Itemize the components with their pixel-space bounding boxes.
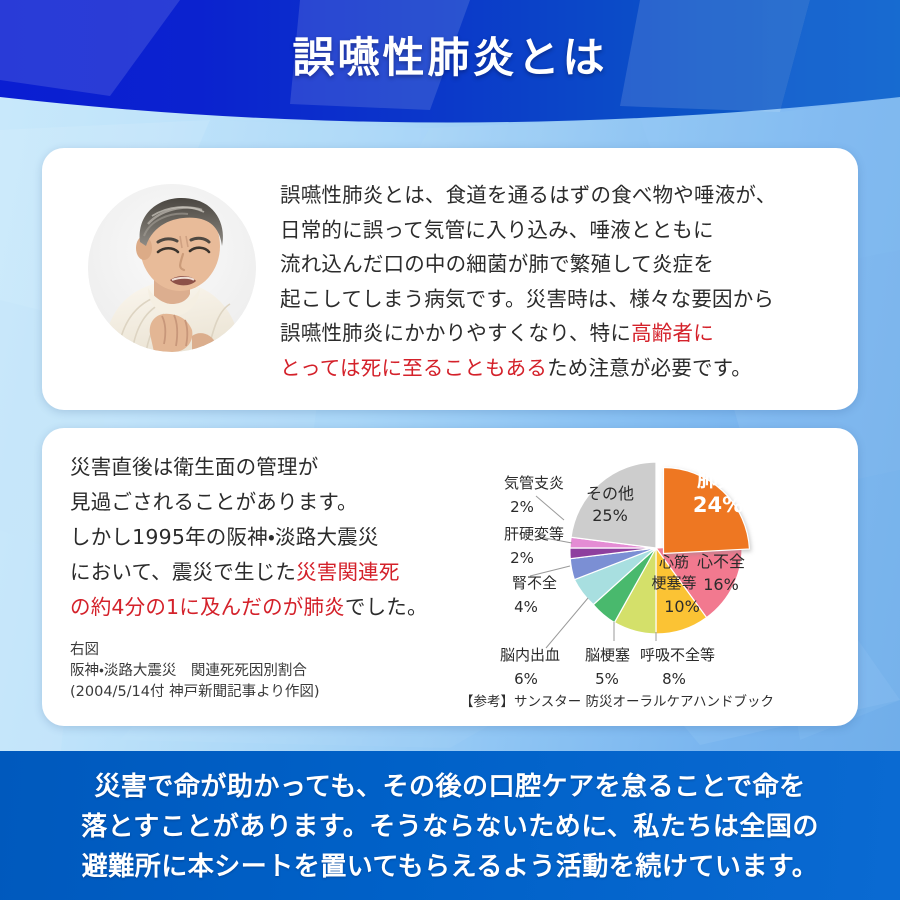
credit-line-3: (2004/5/14付 神戸新聞記事より作図): [70, 682, 500, 703]
header-banner: 誤嚥性肺炎とは: [0, 0, 900, 135]
intro-line-5: 誤嚥性肺炎にかかりやすくなり、特に高齢者に: [280, 316, 840, 351]
quake-line-5-highlight: の約4分の1に及んだのが肺炎: [70, 595, 345, 619]
intro-card: 誤嚥性肺炎とは、食道を通るはずの食べ物や唾液が、 日常的に誤って気管に入り込み、…: [42, 148, 858, 410]
label-nounai-pct: 6%: [514, 670, 538, 688]
label-kankouhen-name: 肝硬変等: [504, 525, 564, 543]
intro-paragraph: 誤嚥性肺炎とは、食道を通るはずの食べ物や唾液が、 日常的に誤って気管に入り込み、…: [280, 178, 840, 385]
quake-line-2: 見過ごされることがあります。: [70, 485, 490, 520]
credit-line-2: 阪神・淡路大震災 関連死死因別割合: [70, 661, 500, 682]
label-sonota-pct: 25%: [592, 506, 628, 525]
credit-line-1: 右図: [70, 640, 500, 661]
label-kankouhen-pct: 2%: [510, 549, 534, 567]
man-clutching-chest-illustration: [88, 184, 256, 352]
bottom-line-2: 落とすことがあります。そうならないために、私たちは全国の: [0, 807, 900, 847]
label-noukousoku-name: 脳梗塞: [585, 646, 630, 664]
label-shinfuzen-pct: 16%: [703, 575, 739, 594]
infographic-page: 誤嚥性肺炎とは: [0, 0, 900, 900]
bottom-message: 災害で命が助かっても、その後の口腔ケアを怠ることで命を 落とすことがあります。そ…: [0, 767, 900, 887]
intro-line-5-normal: 誤嚥性肺炎にかかりやすくなり、特に: [280, 321, 631, 345]
chart-card: 災害直後は衛生面の管理が 見過ごされることがあります。 しかし1995年の阪神・…: [42, 428, 858, 726]
quake-line-5-normal: でした。: [345, 595, 428, 619]
label-kokyuu-name: 呼吸不全等: [640, 646, 715, 664]
label-shinkin-pct: 10%: [664, 597, 700, 616]
pie-chart: 肺炎 24% その他 25% 心不全 16% 心筋 梗塞等 10% 気管支炎 2…: [460, 436, 852, 698]
label-nounai-name: 脳内出血: [500, 646, 560, 664]
intro-line-6-normal: ため注意が必要です。: [547, 356, 752, 380]
pie-chart-svg: 肺炎 24% その他 25% 心不全 16% 心筋 梗塞等 10% 気管支炎 2…: [460, 436, 852, 698]
label-kikanshien-name: 気管支炎: [504, 474, 564, 492]
chart-reference: 【参考】サンスター 防災オーラルケアハンドブック: [460, 690, 860, 710]
label-shinkin-name2: 梗塞等: [651, 574, 696, 592]
page-title: 誤嚥性肺炎とは: [0, 24, 900, 85]
intro-line-4: 起こしてしまう病気です。災害時は、様々な要因から: [280, 282, 840, 317]
quake-line-5: の約4分の1に及んだのが肺炎でした。: [70, 590, 490, 625]
intro-line-1: 誤嚥性肺炎とは、食道を通るはずの食べ物や唾液が、: [280, 178, 840, 213]
bottom-message-band: 災害で命が助かっても、その後の口腔ケアを怠ることで命を 落とすことがあります。そ…: [0, 751, 900, 900]
chart-credit: 右図 阪神・淡路大震災 関連死死因別割合 (2004/5/14付 神戸新聞記事よ…: [70, 640, 500, 703]
quake-line-1: 災害直後は衛生面の管理が: [70, 450, 490, 485]
label-haien-name: 肺炎: [697, 467, 739, 491]
quake-line-3: しかし1995年の阪神・淡路大震災: [70, 520, 490, 555]
bottom-line-3: 避難所に本シートを置いてもらえるよう活動を続けています。: [0, 847, 900, 887]
quake-paragraph: 災害直後は衛生面の管理が 見過ごされることがあります。 しかし1995年の阪神・…: [70, 450, 490, 625]
label-jinfuzen-pct: 4%: [514, 598, 538, 616]
intro-line-6: とっては死に至ることもあるため注意が必要です。: [280, 351, 840, 386]
label-kikanshien-pct: 2%: [510, 498, 534, 516]
intro-line-5-highlight: 高齢者に: [631, 321, 714, 345]
label-shinfuzen-name: 心不全: [697, 552, 745, 571]
intro-line-6-highlight: とっては死に至ることもある: [280, 356, 547, 380]
intro-line-2: 日常的に誤って気管に入り込み、唾液とともに: [280, 213, 840, 248]
bottom-line-1: 災害で命が助かっても、その後の口腔ケアを怠ることで命を: [0, 767, 900, 807]
label-sonota-name: その他: [586, 484, 634, 503]
label-shinkin-name1: 心筋: [659, 553, 689, 571]
label-noukousoku-pct: 5%: [595, 670, 619, 688]
intro-line-3: 流れ込んだ口の中の細菌が肺で繁殖して炎症を: [280, 247, 840, 282]
quake-line-4-normal: において、震災で生じた: [70, 560, 296, 584]
quake-line-4: において、震災で生じた災害関連死: [70, 555, 490, 590]
label-haien-pct: 24%: [693, 493, 743, 517]
chest-pain-photo: [88, 184, 256, 352]
label-kokyuu-pct: 8%: [662, 670, 686, 688]
quake-line-4-highlight: 災害関連死: [296, 560, 400, 584]
label-jinfuzen-name: 腎不全: [512, 574, 557, 592]
